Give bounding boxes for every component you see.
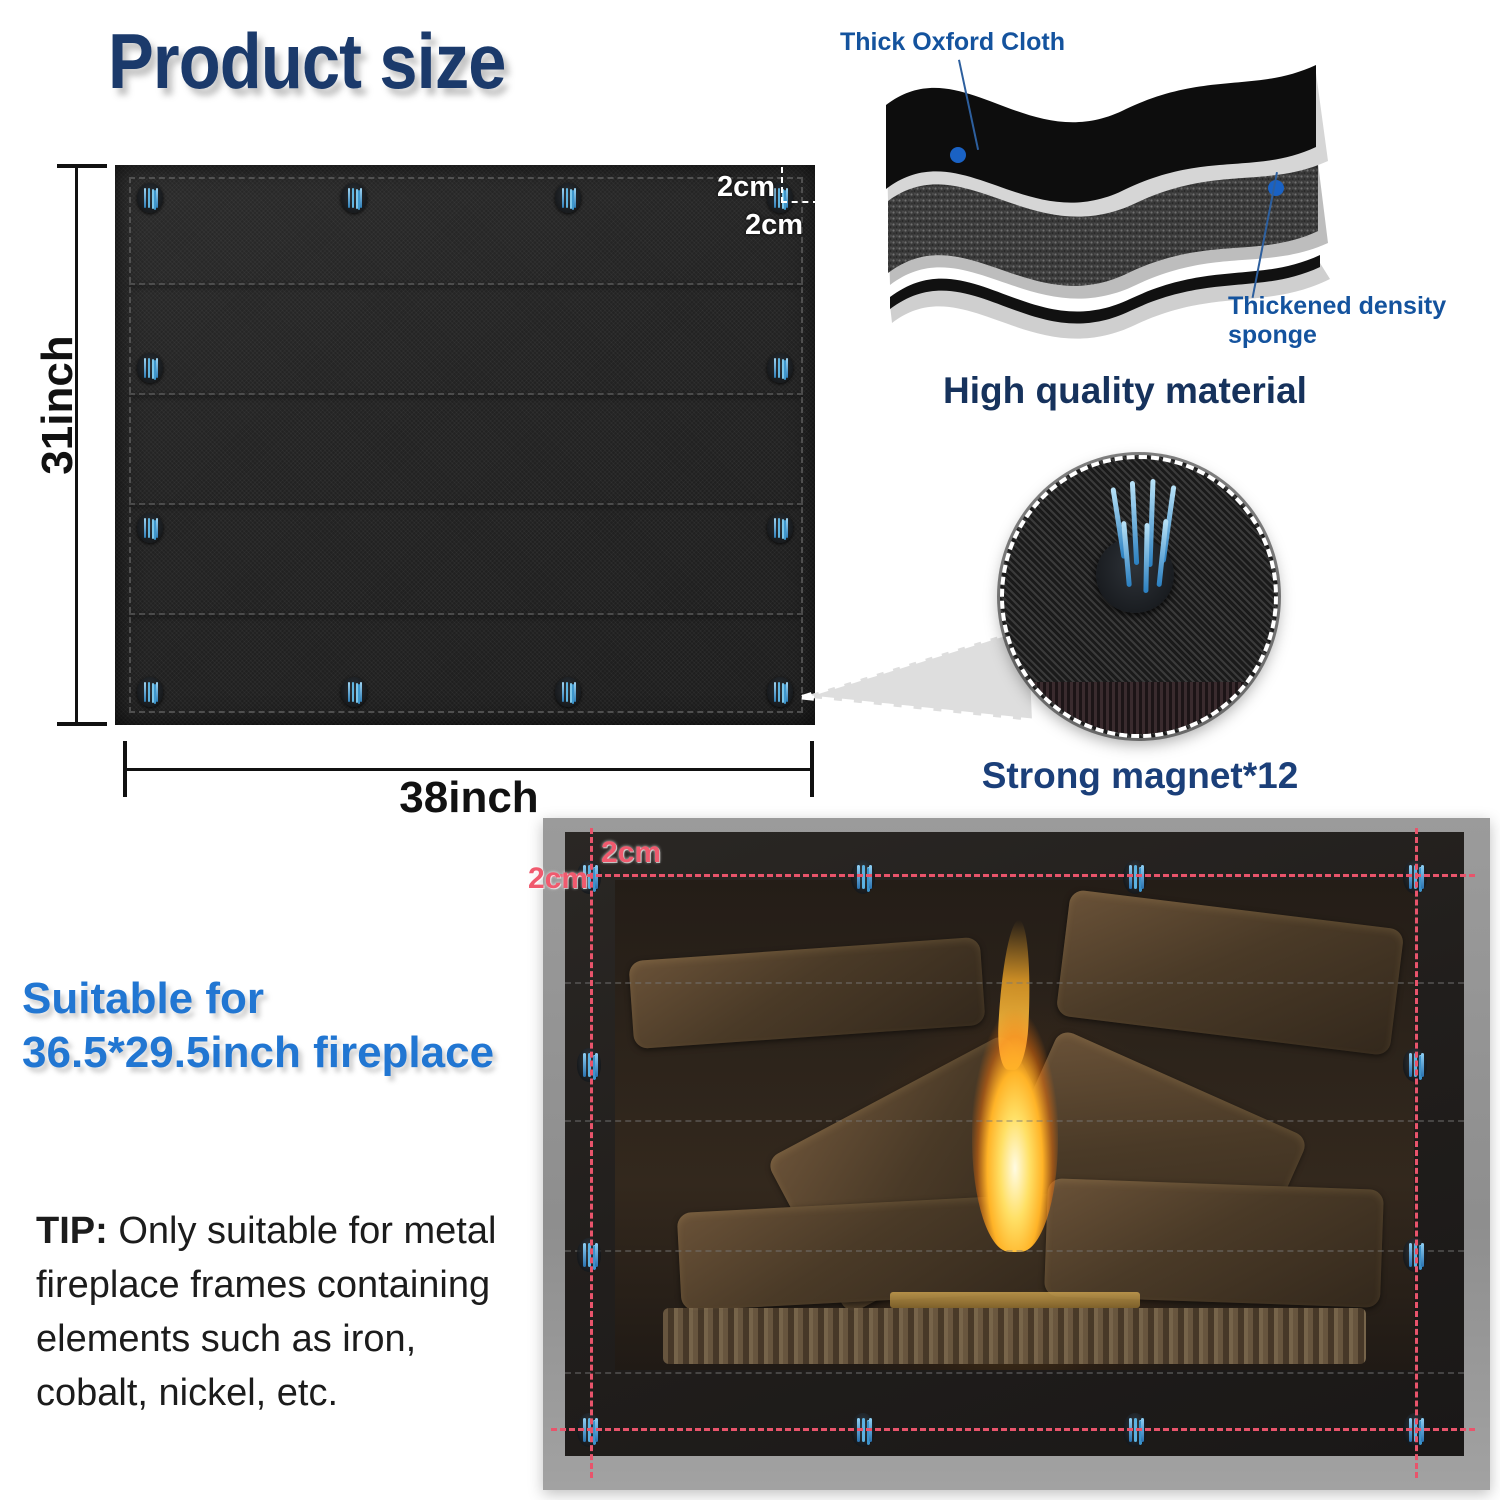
measure-guide-top [551, 874, 1475, 877]
cover-seam [565, 982, 1464, 984]
cover-seam [565, 1372, 1464, 1374]
magnet-icon [341, 677, 367, 707]
margin-label-top: 2cm [717, 171, 775, 204]
fireplace-application-photo: 2cm [543, 818, 1490, 1490]
page-title: Product size [108, 22, 506, 100]
mat-seam [129, 283, 803, 285]
material-section-caption: High quality material [905, 370, 1345, 412]
magnet-icon [767, 353, 793, 383]
cover-seam [565, 1120, 1464, 1122]
mat-seam [129, 613, 803, 615]
suitable-for-line2: 36.5*29.5inch fireplace [22, 1026, 582, 1080]
flame-core [972, 952, 1058, 1252]
suitable-for-line1: Suitable for [22, 972, 582, 1026]
width-dimension-label: 38inch [124, 773, 814, 823]
margin-label-a: 2cm [601, 836, 661, 870]
magnet-icon [851, 860, 875, 894]
log [1056, 889, 1405, 1056]
magnifier-cone [800, 625, 1035, 730]
tip-paragraph: TIP: Only suitable for metal fireplace f… [36, 1205, 536, 1421]
fireplace-fire-scene [615, 880, 1414, 1370]
magnet-icon [137, 677, 163, 707]
callout-label-density-sponge: Thickened density sponge [1228, 292, 1488, 350]
magnet-icon [577, 1238, 601, 1272]
magnet-icon [555, 677, 581, 707]
measure-guide-left [590, 828, 593, 1478]
magnet-icon [137, 183, 163, 213]
mat-seam [129, 393, 803, 395]
log [628, 936, 985, 1048]
margin-guide-vertical [781, 167, 783, 203]
magnet-icon [767, 513, 793, 543]
product-mat-illustration: 2cm 2cm [115, 165, 815, 725]
ember-bed [663, 1308, 1366, 1364]
magnet-icon [577, 1048, 601, 1082]
measure-guide-right [1415, 828, 1418, 1478]
magnet-icon [137, 353, 163, 383]
margin-label-b: 2cm [528, 862, 588, 896]
velcro-strip [1004, 682, 1274, 734]
fireplace-cover-overlay [565, 832, 1464, 1456]
measure-guide-bottom [551, 1428, 1475, 1431]
mat-border-stitching [129, 177, 803, 713]
magnet-icon [137, 513, 163, 543]
width-dimension-line [124, 768, 814, 771]
magnet-icon [1123, 860, 1147, 894]
magnet-zoom-view [1000, 455, 1278, 738]
margin-guide-horizontal [781, 201, 819, 203]
magnet-icon [555, 183, 581, 213]
fire-grate [890, 1292, 1140, 1308]
height-dimension-label: 31inch [33, 325, 83, 485]
log [1045, 1178, 1384, 1307]
cover-seam [565, 1250, 1464, 1252]
magnet-icon [341, 183, 367, 213]
callout-dot-icon [950, 147, 966, 163]
tip-prefix: TIP: [36, 1210, 108, 1252]
suitable-for-heading: Suitable for 36.5*29.5inch fireplace [22, 972, 582, 1079]
margin-label-side: 2cm [745, 209, 803, 242]
callout-label-oxford-cloth: Thick Oxford Cloth [840, 28, 1065, 57]
magnet-icon [767, 677, 793, 707]
height-dimension-cap-top [57, 164, 107, 168]
height-dimension-cap-bottom [57, 722, 107, 726]
magnet-section-caption: Strong magnet*12 [930, 755, 1350, 797]
mat-seam [129, 503, 803, 505]
